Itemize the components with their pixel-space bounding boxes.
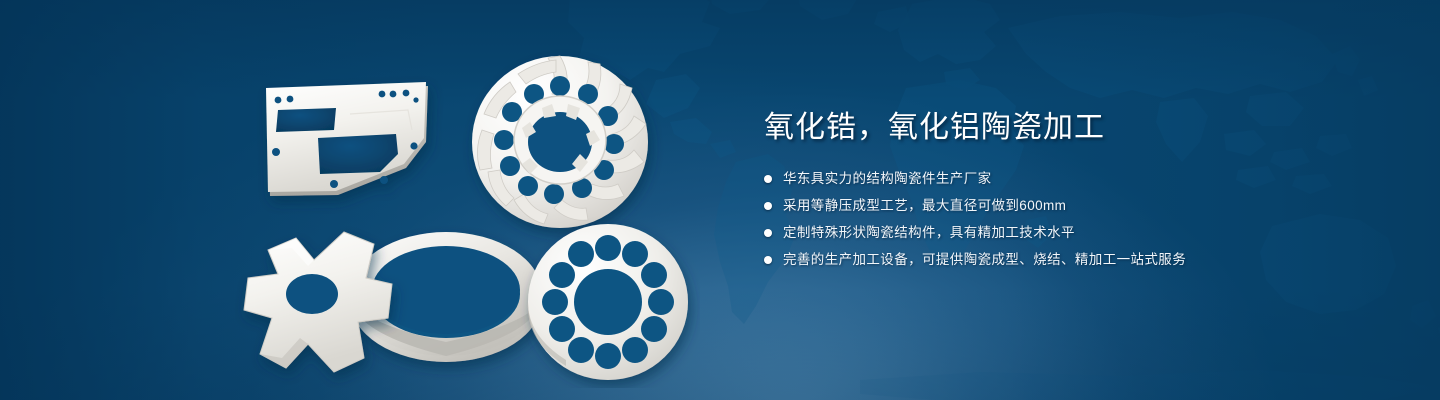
feature-text: 采用等静压成型工艺，最大直径可做到600mm [783, 195, 1066, 216]
feature-text: 定制特殊形状陶瓷结构件，具有精加工技术水平 [783, 222, 1075, 243]
banner-headline: 氧化锆，氧化铝陶瓷加工 [764, 108, 1384, 148]
product-ceramic-impeller [472, 56, 648, 228]
bullet-dot-icon [764, 202, 772, 210]
product-photo-group [230, 38, 700, 388]
feature-text: 完善的生产加工设备，可提供陶瓷成型、烧结、精加工一站式服务 [783, 249, 1186, 270]
product-ceramic-plate [266, 82, 428, 196]
promo-banner: 氧化锆，氧化铝陶瓷加工 华东具实力的结构陶瓷件生产厂家 采用等静压成型工艺，最大… [0, 0, 1440, 400]
product-ceramic-perforated-disc [528, 224, 688, 380]
bullet-dot-icon [764, 256, 772, 264]
list-item: 定制特殊形状陶瓷结构件，具有精加工技术水平 [764, 222, 1384, 243]
list-item: 完善的生产加工设备，可提供陶瓷成型、烧结、精加工一站式服务 [764, 249, 1384, 270]
feature-text: 华东具实力的结构陶瓷件生产厂家 [783, 168, 992, 189]
feature-list: 华东具实力的结构陶瓷件生产厂家 采用等静压成型工艺，最大直径可做到600mm 定… [764, 168, 1384, 270]
list-item: 华东具实力的结构陶瓷件生产厂家 [764, 168, 1384, 189]
bullet-dot-icon [764, 175, 772, 183]
bullet-dot-icon [764, 229, 772, 237]
list-item: 采用等静压成型工艺，最大直径可做到600mm [764, 195, 1384, 216]
banner-copy: 氧化锆，氧化铝陶瓷加工 华东具实力的结构陶瓷件生产厂家 采用等静压成型工艺，最大… [764, 108, 1384, 276]
product-ceramic-star-part [244, 232, 392, 372]
